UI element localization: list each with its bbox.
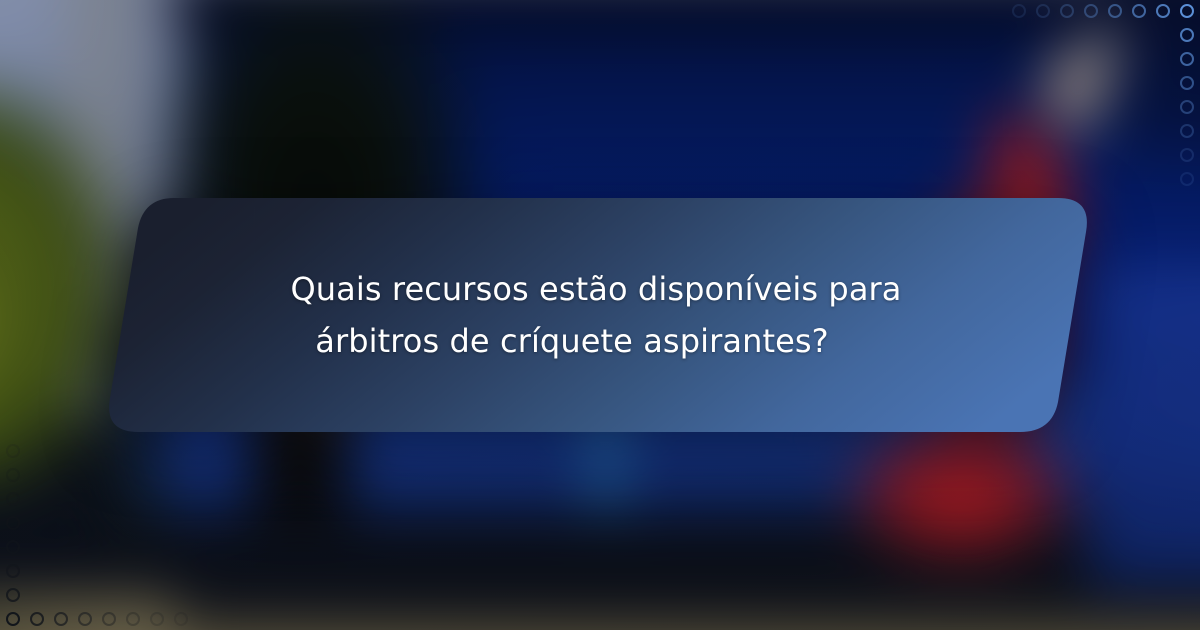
decor-dot xyxy=(1108,4,1122,18)
decor-dot xyxy=(1180,124,1194,138)
social-card-canvas: Quais recursos estão disponíveis para ár… xyxy=(0,0,1200,630)
decor-dot xyxy=(1132,4,1146,18)
decor-dot xyxy=(1084,4,1098,18)
decor-dot xyxy=(1180,148,1194,162)
decor-dot xyxy=(174,612,188,626)
decor-dot xyxy=(1180,28,1194,42)
decor-dot xyxy=(6,468,20,482)
decor-dot xyxy=(6,564,20,578)
decor-dot xyxy=(1180,52,1194,66)
decor-dot xyxy=(6,612,20,626)
decor-dot xyxy=(78,612,92,626)
decor-dot xyxy=(6,492,20,506)
decor-dot xyxy=(1060,4,1074,18)
decor-dot xyxy=(1180,172,1194,186)
decor-dot xyxy=(1180,4,1194,18)
dot-grid-top-right xyxy=(1002,4,1194,196)
decor-dot xyxy=(1012,4,1026,18)
decor-dot xyxy=(102,612,116,626)
decor-dot xyxy=(1180,100,1194,114)
dot-grid-bottom-left xyxy=(6,434,198,626)
decor-dot xyxy=(6,588,20,602)
decor-dot xyxy=(1156,4,1170,18)
decor-dot xyxy=(30,612,44,626)
decor-dot xyxy=(126,612,140,626)
decor-dot xyxy=(150,612,164,626)
decor-dot xyxy=(1180,76,1194,90)
decor-dot xyxy=(54,612,68,626)
decor-dot xyxy=(6,516,20,530)
decor-dot xyxy=(1036,4,1050,18)
question-card xyxy=(96,196,1096,434)
decor-dot xyxy=(6,444,20,458)
decor-dot xyxy=(6,540,20,554)
